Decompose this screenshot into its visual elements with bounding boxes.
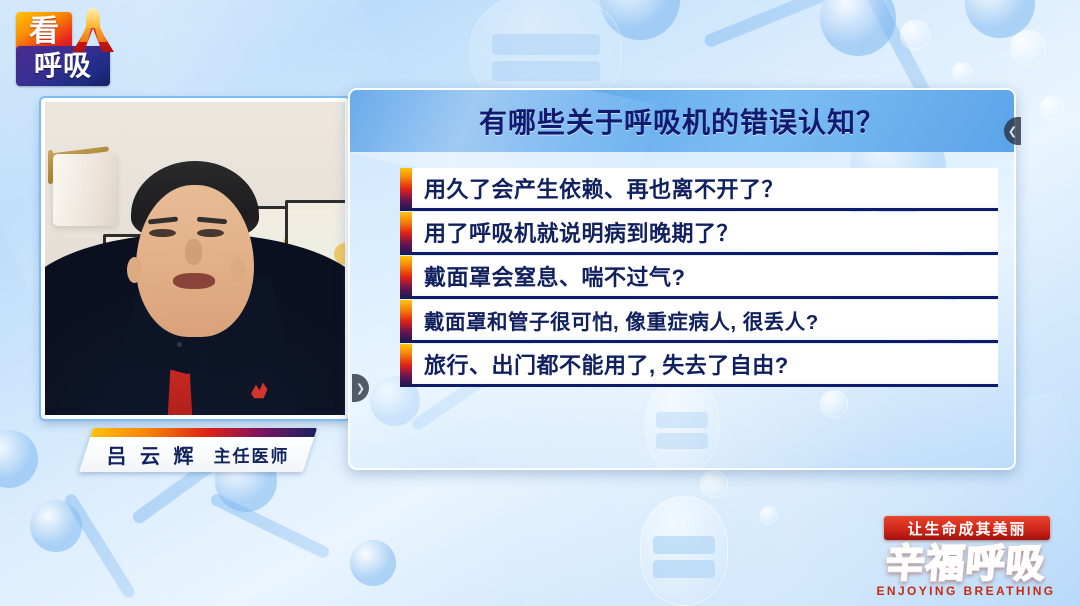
list-item-label: 戴面罩和管子很可怕, 像重症病人, 很丢人? [424, 305, 819, 335]
list-item-accent [400, 300, 412, 343]
content-panel: 有哪些关于呼吸机的错误认知？ 用久了会产生依赖、再也离不开了？ 用了呼吸机就说明… [348, 88, 1016, 470]
lamp-shade-icon [53, 154, 117, 226]
list-item-accent [400, 168, 412, 211]
question-list: 用久了会产生依赖、再也离不开了？ 用了呼吸机就说明病到晚期了？ 戴面罩会窒息、喘… [400, 168, 998, 388]
speaker-video[interactable] [41, 98, 349, 419]
program-logo-word-bottom: 呼吸 [16, 46, 110, 86]
list-item[interactable]: 戴面罩和管子很可怕, 像重症病人, 很丢人? [400, 300, 998, 343]
nav-next-label: ❯ [356, 382, 365, 395]
program-logo: 看 呼吸 [12, 6, 116, 90]
list-item-label: 戴面罩会窒息、喘不过气? [424, 260, 685, 292]
list-item-label: 用久了会产生依赖、再也离不开了？ [424, 172, 784, 204]
list-item-label: 旅行、出门都不能用了, 失去了自由? [424, 348, 789, 380]
nav-prev-label: ❮ [1008, 125, 1017, 138]
show-logo-title: 辛福呼吸 [858, 538, 1074, 584]
nameplate-gradient-bar [90, 428, 317, 437]
page-title: 有哪些关于呼吸机的错误认知？ [350, 90, 1014, 152]
speaker-name: 吕 云 辉 [106, 440, 197, 469]
list-item[interactable]: 旅行、出门都不能用了, 失去了自由? [400, 344, 998, 387]
list-item-accent [400, 212, 412, 255]
broadcast-screen: 看 呼吸 [0, 0, 1080, 606]
list-item-label: 用了呼吸机就说明病到晚期了？ [424, 216, 739, 248]
speaker-nameplate: 吕 云 辉 主任医师 [86, 428, 310, 472]
list-item[interactable]: 戴面罩会窒息、喘不过气? [400, 256, 998, 299]
list-item[interactable]: 用久了会产生依赖、再也离不开了？ [400, 168, 998, 211]
show-logo: 让生命成其美丽 辛福呼吸 ENJOYING BREATHING [860, 516, 1072, 600]
speaker-title: 主任医师 [214, 442, 290, 467]
list-item-accent [400, 256, 412, 299]
list-item-accent [400, 344, 412, 387]
show-logo-english: ENJOYING BREATHING [860, 584, 1072, 598]
list-item[interactable]: 用了呼吸机就说明病到晚期了？ [400, 212, 998, 255]
lung-person-icon [70, 8, 116, 52]
